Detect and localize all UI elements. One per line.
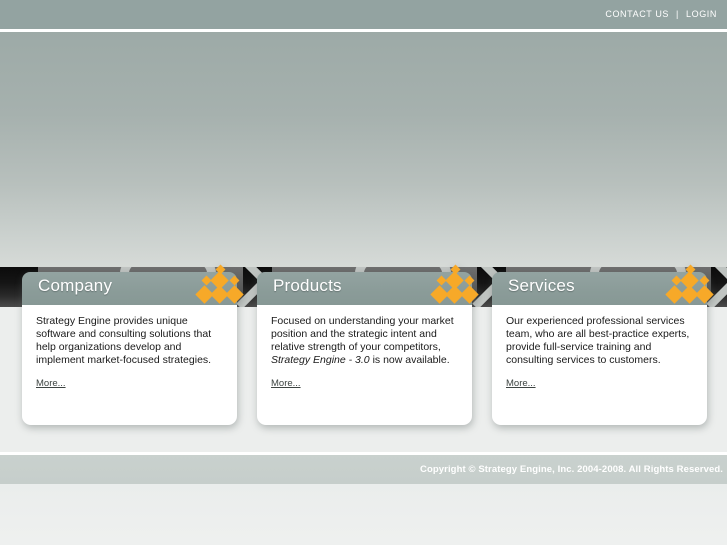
more-link[interactable]: More...: [271, 378, 301, 389]
diamond-cluster-icon: [665, 266, 717, 308]
hero-banner: [0, 32, 727, 267]
copyright-text: Copyright © Strategy Engine, Inc. 2004-2…: [420, 464, 723, 475]
nav-separator: |: [676, 9, 679, 19]
card-header: Products: [257, 272, 472, 305]
more-link[interactable]: More...: [506, 378, 536, 389]
card-body: Our experienced professional services te…: [492, 305, 707, 425]
feature-card-services[interactable]: Services Our experienced professional se…: [492, 272, 707, 425]
feature-cards-row: Company Strategy Engine provides unique …: [0, 272, 727, 437]
nav-login[interactable]: LOGIN: [686, 9, 717, 19]
card-title: Company: [38, 276, 112, 296]
card-body: Focused on understanding your market pos…: [257, 305, 472, 425]
nav-contact-us[interactable]: CONTACT US: [605, 9, 669, 19]
feature-card-products[interactable]: Products Focused on understanding your m…: [257, 272, 472, 425]
more-link[interactable]: More...: [36, 378, 66, 389]
feature-card-company[interactable]: Company Strategy Engine provides unique …: [22, 272, 237, 425]
page-root: CONTACT US | LOGIN Company: [0, 0, 727, 545]
top-utility-bar: CONTACT US | LOGIN: [0, 0, 727, 29]
page-bottom-area: [0, 484, 727, 545]
diamond-cluster-icon: [195, 266, 247, 308]
card-description: Strategy Engine provides unique software…: [36, 315, 223, 367]
card-body: Strategy Engine provides unique software…: [22, 305, 237, 425]
card-header: Company: [22, 272, 237, 305]
card-description: Focused on understanding your market pos…: [271, 315, 458, 367]
card-title: Products: [273, 276, 342, 296]
top-navigation: CONTACT US | LOGIN: [605, 9, 717, 19]
diamond-cluster-icon: [430, 266, 482, 308]
card-header: Services: [492, 272, 707, 305]
card-title: Services: [508, 276, 575, 296]
footer-bar: Copyright © Strategy Engine, Inc. 2004-2…: [0, 455, 727, 484]
card-description: Our experienced professional services te…: [506, 315, 693, 367]
